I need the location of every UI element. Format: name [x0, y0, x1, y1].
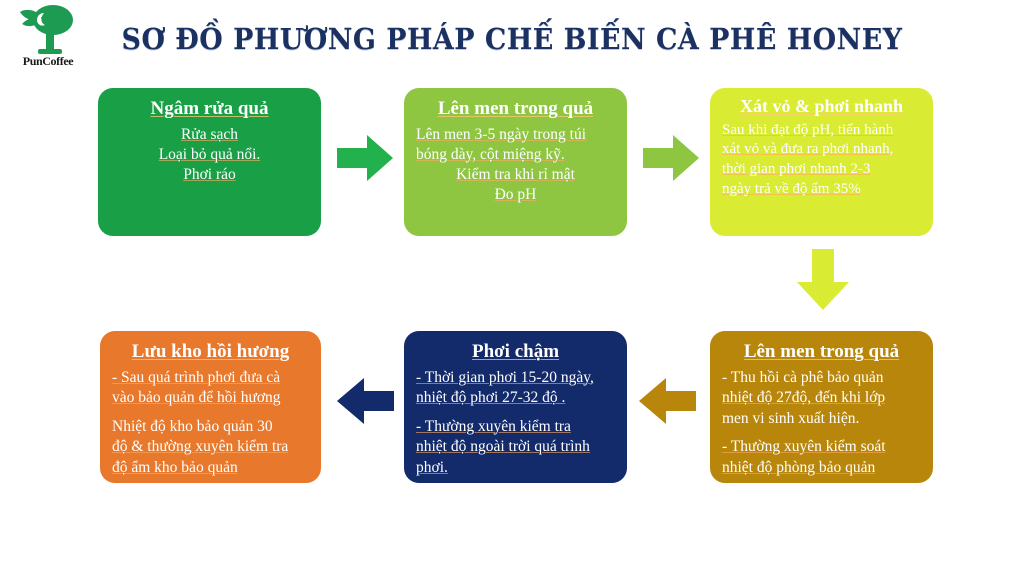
flow-step-slow-dry[interactable]: Phơi chậm - Thời gian phơi 15-20 ngày, n…: [404, 331, 627, 483]
flow-step-warehouse-resting[interactable]: Lưu kho hồi hương - Sau quá trình phơi đ…: [100, 331, 321, 483]
flow-step-hull-quick-dry[interactable]: Xát vỏ & phơi nhanh Sau khi đạt độ pH, t…: [710, 88, 933, 236]
step-line: Nhiệt độ kho bảo quản 30: [112, 417, 309, 437]
flow-step-soak-wash[interactable]: Ngâm rửa quả Rửa sạch Loại bỏ quả nổi. P…: [98, 88, 321, 236]
arrow-right-icon: [337, 133, 393, 183]
step-line: độ ẩm kho bảo quản: [112, 458, 309, 478]
step-line: Sau khi đạt độ pH, tiến hành: [722, 121, 921, 141]
step-line: độ & thường xuyên kiểm tra: [112, 437, 309, 457]
step-line: vào bảo quản để hồi hương: [112, 388, 309, 408]
step-title: Lên men trong quả: [722, 341, 921, 363]
step-line: nhiệt độ phòng bảo quản: [722, 458, 921, 478]
spacer: [722, 429, 921, 437]
step-line: - Thường xuyên kiểm tra: [416, 417, 615, 437]
arrow-left-icon: [638, 375, 696, 427]
step-line: - Sau quá trình phơi đưa cà: [112, 368, 309, 388]
step-line: phơi.: [416, 458, 615, 478]
arrow-left-icon: [336, 375, 394, 427]
step-line: Loại bỏ quả nổi.: [110, 145, 309, 165]
step-line: nhiệt độ phơi 27-32 độ .: [416, 388, 615, 408]
brand-name: PunCoffee: [10, 54, 86, 69]
step-line: bóng dày, cột miệng kỹ.: [416, 145, 615, 165]
flow-step-ferment-in-cherry[interactable]: Lên men trong quả Lên men 3-5 ngày trong…: [404, 88, 627, 236]
step-line: Lên men 3-5 ngày trong túi: [416, 125, 615, 145]
step-line: nhiệt độ ngoài trời quá trình: [416, 437, 615, 457]
arrow-down-icon: [796, 249, 850, 311]
step-line: Kiểm tra khi rỉ mật: [416, 165, 615, 185]
step-line: Rửa sạch: [110, 125, 309, 145]
step-line: ngày trả về độ ẩm 35%: [722, 180, 921, 200]
step-title: Lên men trong quả: [416, 98, 615, 120]
spacer: [112, 409, 309, 417]
step-title: Xát vỏ & phơi nhanh: [722, 96, 921, 117]
step-line: - Thu hồi cà phê bảo quản: [722, 368, 921, 388]
step-line: - Thời gian phơi 15-20 ngày,: [416, 368, 615, 388]
page-title: SƠ ĐỒ PHƯƠNG PHÁP CHẾ BIẾN CÀ PHÊ HONEY: [36, 22, 988, 56]
spacer: [416, 409, 615, 417]
step-title: Ngâm rửa quả: [110, 98, 309, 120]
step-title: Phơi chậm: [416, 341, 615, 363]
step-line: xát vỏ và đưa ra phơi nhanh,: [722, 140, 921, 160]
step-line: Phơi ráo: [110, 165, 309, 185]
step-title: Lưu kho hồi hương: [112, 341, 309, 363]
step-line: men vi sinh xuất hiện.: [722, 409, 921, 429]
step-line: Đo pH: [416, 185, 615, 205]
step-line: - Thường xuyên kiểm soát: [722, 437, 921, 457]
step-line: nhiệt độ 27độ, đến khi lớp: [722, 388, 921, 408]
step-line: thời gian phơi nhanh 2-3: [722, 160, 921, 180]
flow-step-ferment-storage[interactable]: Lên men trong quả - Thu hồi cà phê bảo q…: [710, 331, 933, 483]
arrow-right-icon: [643, 133, 699, 183]
